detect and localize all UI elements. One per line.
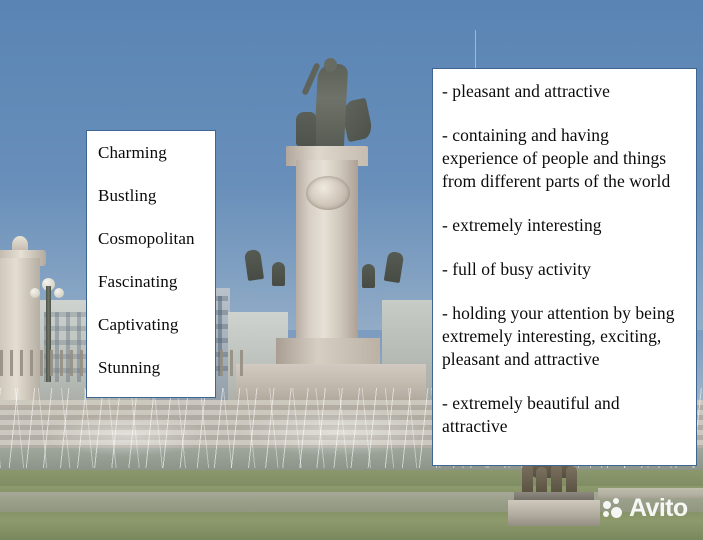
statue-plinth (508, 500, 600, 526)
bronze-figure-group (520, 462, 586, 494)
definition-item: - extremely beautiful and attractive (442, 392, 688, 438)
definition-item: - full of busy activity (442, 258, 688, 281)
avito-dots-icon (603, 498, 624, 519)
bronze-statue (314, 64, 349, 150)
vocabulary-words-panel: Charming Bustling Cosmopolitan Fascinati… (86, 130, 216, 398)
lamp-globe-icon (54, 288, 64, 298)
word-item: Charming (98, 144, 215, 161)
column-crest (306, 176, 350, 210)
word-item: Fascinating (98, 273, 215, 290)
statue-child-figure (296, 112, 316, 146)
flanking-statue (362, 264, 375, 288)
definitions-panel: - pleasant and attractive - containing a… (432, 68, 697, 466)
avito-wordmark: Avito (629, 496, 688, 521)
bronze-figure-leg (566, 466, 577, 494)
word-item: Stunning (98, 359, 215, 376)
antenna-line (475, 30, 476, 68)
statue-head (324, 58, 337, 72)
definition-item: - containing and having experience of pe… (442, 124, 688, 193)
lamp-globe-icon (30, 288, 40, 298)
bronze-figure-leg (551, 464, 562, 494)
bronze-figure-leg (522, 463, 533, 494)
stone-pillar (0, 258, 40, 408)
screenshot-root: Charming Bustling Cosmopolitan Fascinati… (0, 0, 703, 540)
definition-item: - holding your attention by being extrem… (442, 302, 688, 371)
definition-item: - pleasant and attractive (442, 80, 688, 103)
bronze-figure-leg (536, 467, 547, 494)
word-item: Captivating (98, 316, 215, 333)
avito-watermark: Avito (603, 496, 688, 521)
word-item: Cosmopolitan (98, 230, 215, 247)
definition-item: - extremely interesting (442, 214, 688, 237)
word-item: Bustling (98, 187, 215, 204)
flanking-statue (272, 262, 285, 286)
